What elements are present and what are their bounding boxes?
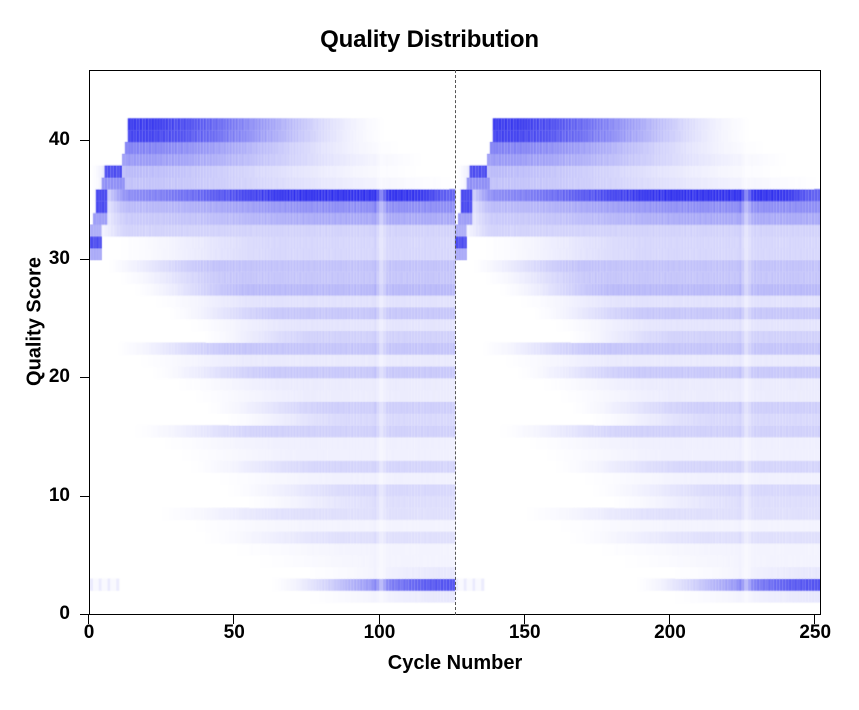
x-tick-label: 200 xyxy=(630,622,710,644)
x-axis: 050100150200250 xyxy=(0,0,859,710)
x-tick-label: 0 xyxy=(49,622,129,644)
x-axis-label: Cycle Number xyxy=(89,652,821,675)
x-tick-label: 100 xyxy=(339,622,419,644)
x-tick-label: 50 xyxy=(194,622,274,644)
y-axis-label: Quality Score xyxy=(24,192,47,452)
x-tick-label: 250 xyxy=(775,622,855,644)
chart-figure: Quality Distribution 010203040 050100150… xyxy=(0,0,859,710)
x-tick-label: 150 xyxy=(485,622,565,644)
